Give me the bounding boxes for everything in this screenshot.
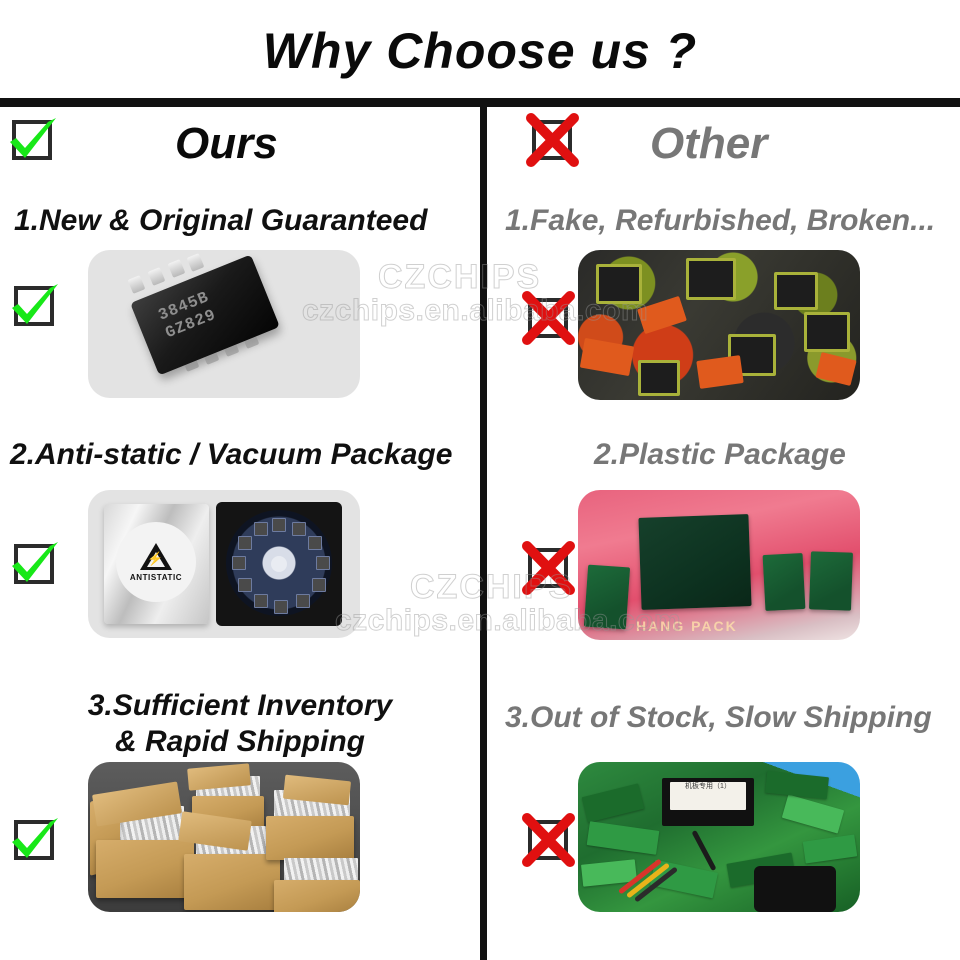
why-choose-us-infographic: Why Choose us ? Ours Other 1.New & Origi… [0, 0, 960, 960]
check-mark-header [4, 112, 60, 168]
antistatic-scene: ⚡ ANTISTATIC [88, 490, 360, 638]
antistatic-label-text: ANTISTATIC [130, 573, 182, 582]
check-mark-icon [4, 112, 60, 168]
chip-marking: 3845B GZ829 [156, 288, 219, 343]
row3-left-heading-line1: 3.Sufficient Inventory [50, 688, 430, 724]
column-divider [480, 107, 487, 960]
row1-right-heading: 1.Fake, Refurbished, Broken... [505, 203, 935, 239]
antistatic-label: ⚡ ANTISTATIC [116, 522, 196, 602]
cross-mark-header [524, 112, 580, 168]
antistatic-bag: ⚡ ANTISTATIC [104, 504, 209, 624]
check-mark-icon [6, 278, 62, 334]
row3-right-heading: 3.Out of Stock, Slow Shipping [505, 700, 932, 736]
row2-check-mark [6, 536, 62, 592]
check-mark-icon [6, 812, 62, 868]
scrap-module-label: 机板专用（1） [670, 782, 746, 810]
row1-check-mark [6, 278, 62, 334]
row2-right-heading: 2.Plastic Package [594, 437, 846, 473]
antistatic-bag-and-reel-photo: ⚡ ANTISTATIC [88, 490, 360, 638]
scrap-pcb-scene: 机板专用（1） [578, 762, 860, 912]
lightning-bolt-icon: ⚡ [147, 551, 163, 567]
row3-cross-mark [520, 812, 576, 868]
row3-left-heading: 3.Sufficient Inventory & Rapid Shipping [50, 688, 430, 760]
plastic-bag-pcb-photo: HANG PACK [578, 490, 860, 640]
row1-left-heading: 1.New & Original Guaranteed [14, 203, 427, 239]
reel-hub [271, 556, 287, 572]
cross-mark-icon [520, 290, 576, 346]
scrap-scene [578, 250, 860, 400]
stock-boxes-scene [88, 762, 360, 912]
check-mark-icon [6, 536, 62, 592]
row3-left-heading-line2: & Rapid Shipping [50, 724, 430, 760]
cross-mark-icon [520, 812, 576, 868]
cross-mark-icon [524, 112, 580, 168]
scrap-chips-photo [578, 250, 860, 400]
chip-scene: 3845B GZ829 [88, 250, 360, 398]
row2-left-heading: 2.Anti-static / Vacuum Package [10, 437, 452, 473]
cross-mark-icon [520, 540, 576, 596]
row3-check-mark [6, 812, 62, 868]
watermark-brand: CZCHIPS [378, 258, 541, 297]
column-header-ours: Ours [175, 108, 278, 180]
scrap-pcb-pile-photo: 机板专用（1） [578, 762, 860, 912]
page-title: Why Choose us ? [0, 22, 960, 80]
column-header-other: Other [650, 108, 767, 180]
stock-boxes-photo [88, 762, 360, 912]
row1-cross-mark [520, 290, 576, 346]
plastic-pack-scene: HANG PACK [578, 490, 860, 640]
row2-cross-mark [520, 540, 576, 596]
new-original-chip-photo: 3845B GZ829 [88, 250, 360, 398]
pack-brand-text: HANG PACK [636, 618, 738, 634]
tape-reel [216, 502, 342, 626]
header-divider [0, 98, 960, 107]
